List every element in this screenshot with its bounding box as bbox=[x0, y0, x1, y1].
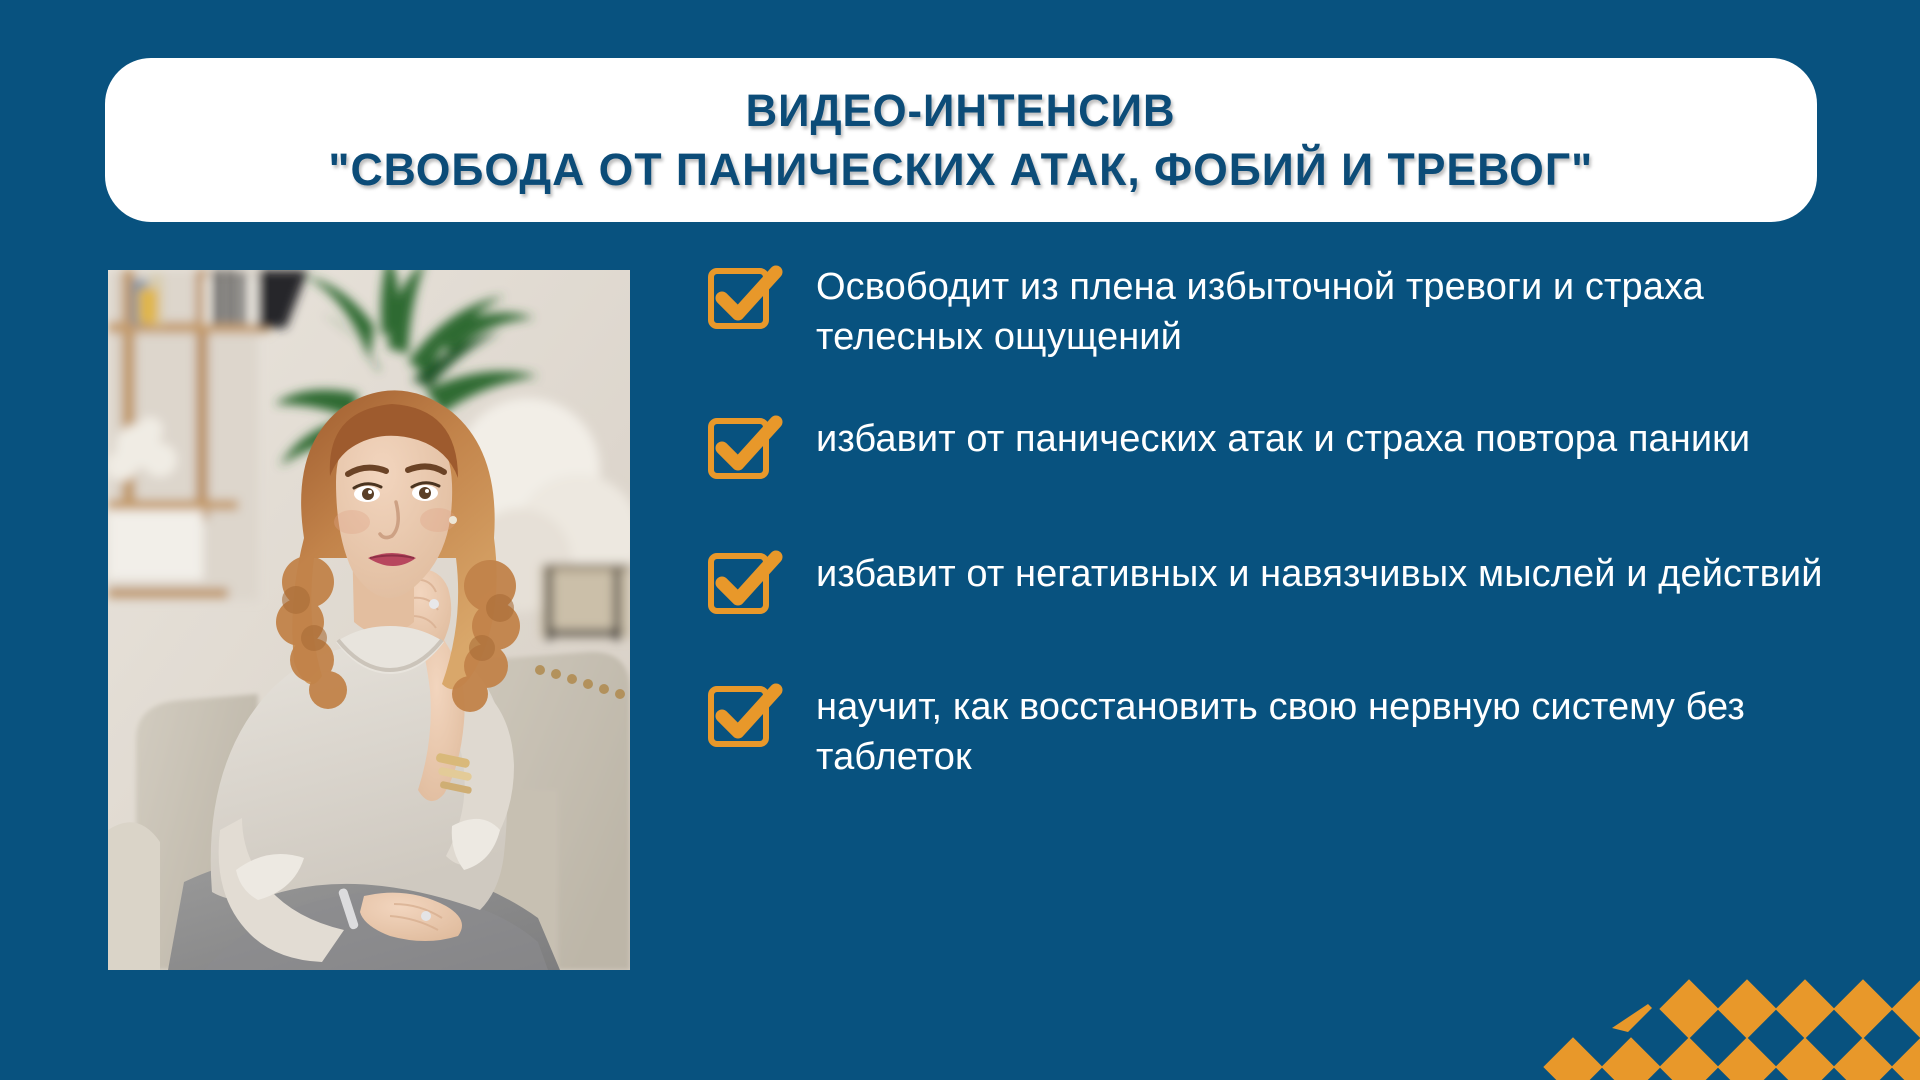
title-banner: ВИДЕО-ИНТЕНСИВ "СВОБОДА ОТ ПАНИЧЕСКИХ АТ… bbox=[105, 58, 1817, 222]
benefit-text: избавит от негативных и навязчивых мысле… bbox=[816, 547, 1823, 599]
benefit-text: научит, как восстановить свою нервную си… bbox=[816, 680, 1826, 782]
benefit-text: Освободит из плена избыточной тревоги и … bbox=[816, 262, 1826, 362]
checkbox-checked-icon bbox=[706, 549, 784, 623]
benefit-item: Освободит из плена избыточной тревоги и … bbox=[706, 262, 1826, 362]
slide-canvas: ВИДЕО-ИНТЕНСИВ "СВОБОДА ОТ ПАНИЧЕСКИХ АТ… bbox=[0, 0, 1920, 1080]
benefit-text: избавит от панических атак и страха повт… bbox=[816, 412, 1750, 464]
benefit-item: научит, как восстановить свою нервную си… bbox=[706, 680, 1826, 782]
title-line-primary: ВИДЕО-ИНТЕНСИВ bbox=[746, 88, 1176, 133]
presenter-photo bbox=[108, 270, 630, 970]
benefit-item: избавит от негативных и навязчивых мысле… bbox=[706, 547, 1823, 621]
title-line-secondary: "СВОБОДА ОТ ПАНИЧЕСКИХ АТАК, ФОБИЙ И ТРЕ… bbox=[329, 147, 1594, 192]
checkbox-checked-icon bbox=[706, 682, 784, 756]
benefit-item: избавит от панических атак и страха повт… bbox=[706, 412, 1750, 486]
checkbox-checked-icon bbox=[706, 414, 784, 488]
diamond-pattern-decoration bbox=[1500, 960, 1920, 1080]
checkbox-checked-icon bbox=[706, 264, 784, 338]
